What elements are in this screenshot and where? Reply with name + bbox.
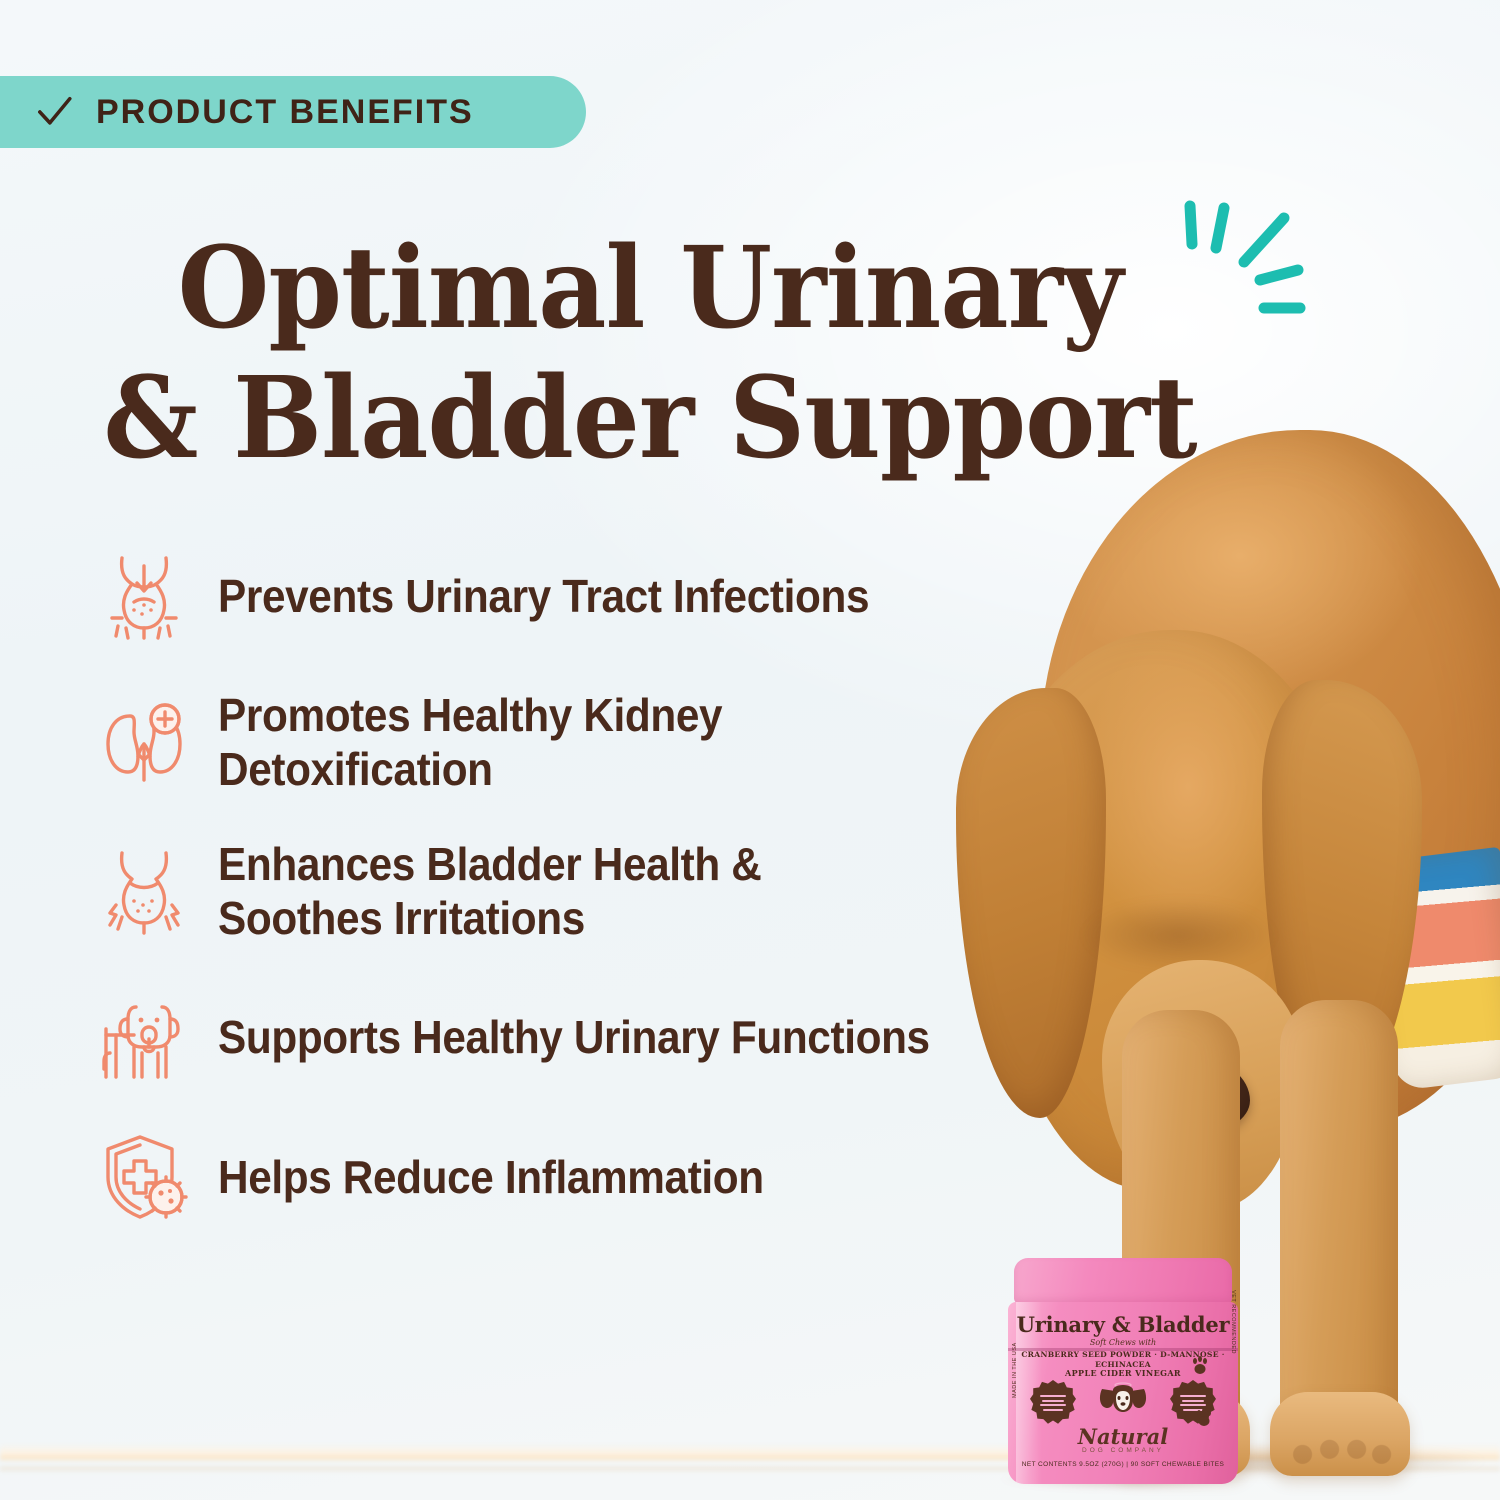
headline-line-1: Optimal Urinary [39, 224, 1261, 354]
jar-product-title: Urinary & Bladder [1008, 1312, 1238, 1337]
check-icon [34, 92, 74, 132]
jar-subtitle: Soft Chews with [1008, 1338, 1238, 1347]
benefit-item: Helps Reduce Inflammation [96, 1129, 1156, 1225]
benefit-text: Supports Healthy Urinary Functions [218, 1010, 930, 1064]
jar-lid [1014, 1258, 1232, 1304]
product-benefits-graphic: PRODUCT BENEFITS Optimal Urinary & Bladd… [0, 0, 1500, 1500]
kidney-cross-icon [96, 694, 192, 790]
product-jar: Urinary & Bladder Soft Chews with CRANBE… [1008, 1258, 1238, 1484]
benefit-item: Supports Healthy Urinary Functions [96, 989, 1156, 1085]
dog-hydrant-icon [96, 989, 192, 1085]
jar-seal-left-text [1038, 1393, 1068, 1413]
benefit-text: Promotes Healthy Kidney Detoxification [218, 688, 722, 797]
benefit-item: Prevents Urinary Tract Infections [96, 548, 1156, 644]
sparkle-icon [1168, 196, 1318, 346]
product-benefits-badge: PRODUCT BENEFITS [0, 76, 586, 148]
brand-dog-logo-icon [1093, 1378, 1153, 1426]
jar-side-text-right: VET RECOMMENDED [1230, 1290, 1236, 1354]
benefits-list: Prevents Urinary Tract Infections Promot… [96, 548, 1156, 1269]
brand-subline: DOG COMPANY [1008, 1447, 1238, 1454]
paw-badge-icon [1194, 1408, 1214, 1430]
badge-label: PRODUCT BENEFITS [96, 93, 474, 132]
jar-net-contents: NET CONTENTS 9.5OZ (270G) | 90 SOFT CHEW… [1008, 1461, 1238, 1468]
jar-side-text-left: MADE IN THE USA [1012, 1342, 1018, 1398]
benefit-item: Enhances Bladder Health & Soothes Irrita… [96, 837, 1156, 946]
bladder-arrow-icon [96, 548, 192, 644]
bladder-irritation-icon [96, 843, 192, 939]
benefit-text: Helps Reduce Inflammation [218, 1150, 764, 1204]
page-title: Optimal Urinary & Bladder Support [39, 224, 1261, 484]
headline-line-2: & Bladder Support [39, 354, 1261, 484]
benefit-text: Enhances Bladder Health & Soothes Irrita… [218, 837, 761, 946]
benefit-item: Promotes Healthy Kidney Detoxification [96, 688, 1156, 797]
paw-badge-icon [1190, 1356, 1210, 1378]
benefit-text: Prevents Urinary Tract Infections [218, 569, 869, 623]
shield-germ-icon [96, 1129, 192, 1225]
dog-paw-right [1270, 1392, 1410, 1476]
